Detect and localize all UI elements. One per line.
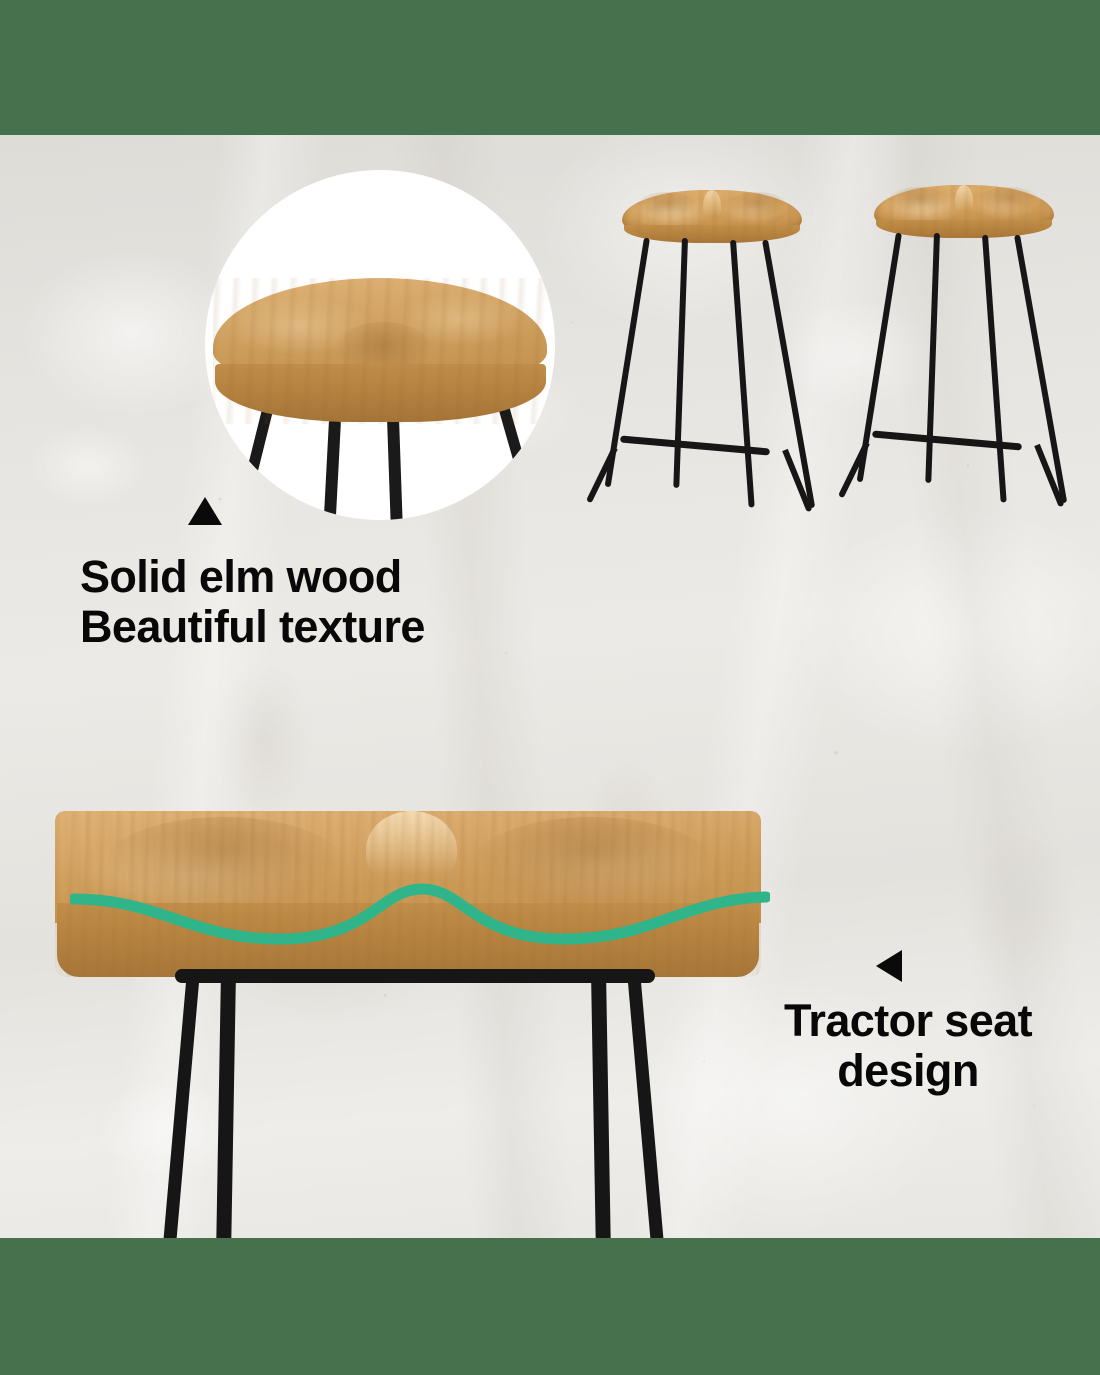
foreground-stool-apron	[175, 969, 655, 983]
triangle-up-icon	[188, 497, 222, 525]
bar-stool-left	[600, 190, 815, 590]
foreground-stool-leg	[627, 970, 665, 1238]
stool-sled-runner	[838, 442, 870, 499]
bottom-green-band	[0, 1238, 1100, 1375]
foreground-stool-leg	[216, 971, 236, 1238]
seat-side-edge	[624, 225, 800, 243]
seat-contour-wave	[70, 863, 770, 953]
inset-stool-leg	[387, 418, 403, 520]
stool-leg	[673, 238, 688, 488]
stool-leg	[925, 233, 940, 483]
inset-seat-edge	[215, 364, 546, 422]
stool-seat	[874, 185, 1054, 237]
stool-sled-runner	[586, 447, 618, 504]
caption-right-line1: Tractor seat	[784, 995, 1032, 1046]
seat-side-edge	[876, 220, 1052, 238]
top-green-band	[0, 0, 1100, 135]
inset-stool-leg	[323, 420, 341, 520]
caption-right-line2: design	[837, 1045, 978, 1096]
inset-seat-closeup	[213, 278, 547, 424]
foreground-stool-leg	[162, 970, 200, 1238]
wave-svg	[70, 863, 770, 953]
caption-left-line2: Beautiful texture	[80, 601, 425, 652]
stool-leg	[982, 235, 1007, 503]
caption-left: Solid elm woodBeautiful texture	[80, 552, 425, 653]
caption-right: Tractor seatdesign	[738, 996, 1078, 1097]
stool-seat	[622, 190, 802, 242]
triangle-left-icon	[876, 950, 902, 982]
foreground-stool-leg	[591, 971, 611, 1238]
product-feature-graphic: Solid elm woodBeautiful texture Tractor …	[0, 0, 1100, 1375]
bar-stool-right	[852, 185, 1067, 585]
seat-closeup-circle	[205, 170, 555, 520]
stool-leg	[730, 240, 755, 508]
caption-left-line1: Solid elm wood	[80, 551, 402, 602]
product-photo: Solid elm woodBeautiful texture Tractor …	[0, 135, 1100, 1238]
